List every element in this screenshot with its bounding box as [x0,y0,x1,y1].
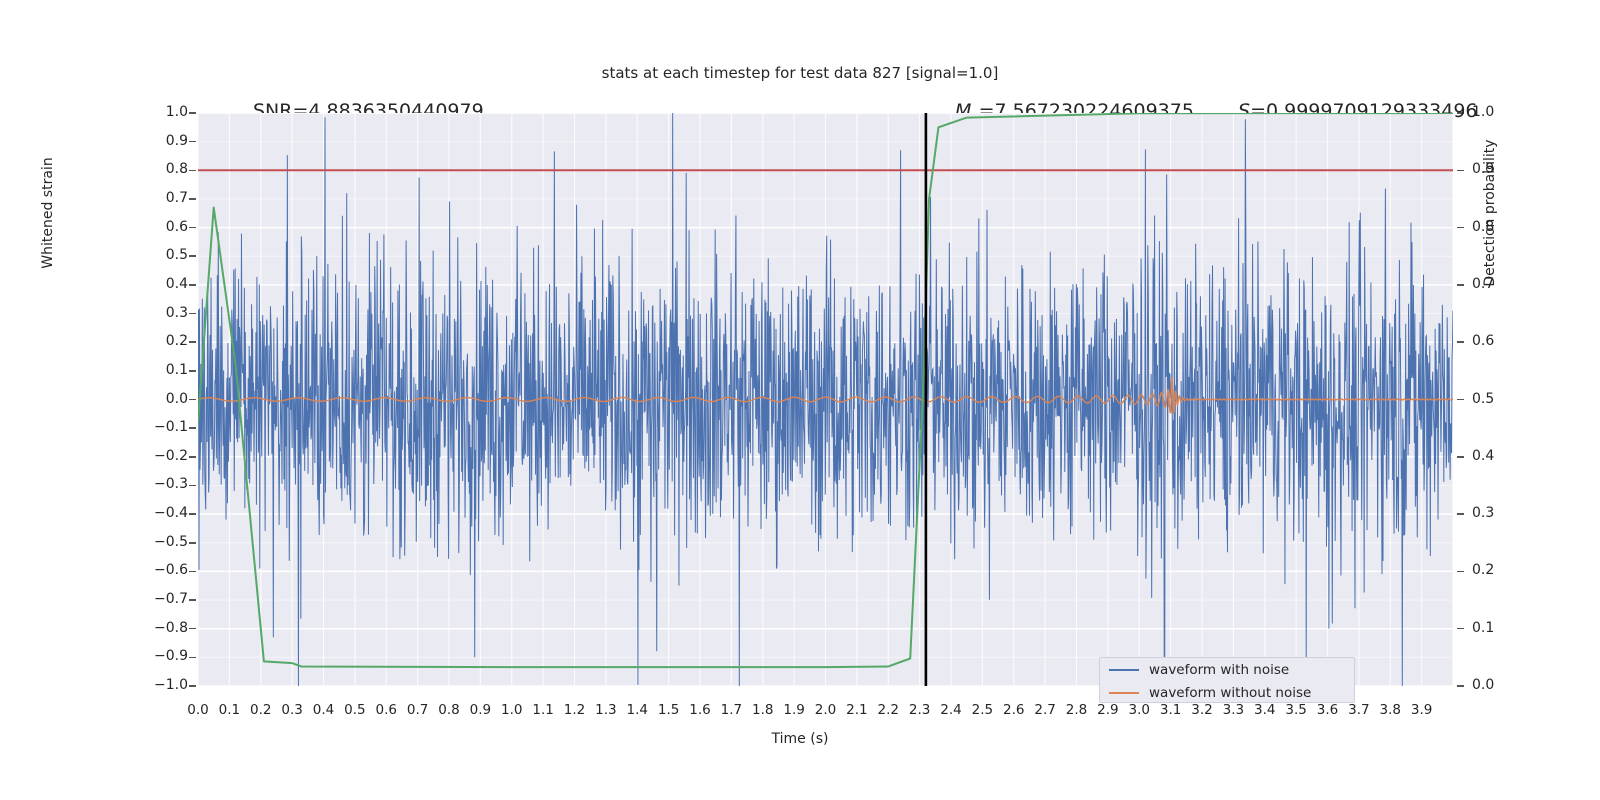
y-tick-mark-left [189,198,196,200]
y-tick-mark-right [1457,456,1464,458]
plot-area [198,113,1453,686]
x-tick: 3.9 [1402,702,1442,718]
y-tick-left: −0.6 [0,562,188,578]
y-tick-mark-right [1457,227,1464,229]
y-tick-mark-left [189,657,196,659]
y-tick-mark-right [1457,284,1464,286]
y-tick-mark-left [189,341,196,343]
legend-label-noise: waveform with noise [1149,662,1289,678]
y-tick-left: 1.0 [0,104,188,120]
y-tick-right: 0.4 [1472,448,1494,464]
y-tick-right: 0.3 [1472,505,1494,521]
y-tick-left: −0.1 [0,419,188,435]
y-tick-mark-left [189,427,196,429]
y-tick-right: 0.9 [1472,161,1494,177]
figure-canvas: stats at each timestep for test data 827… [0,0,1600,800]
y-tick-mark-left [189,170,196,172]
y-tick-right: 0.7 [1472,276,1494,292]
y-tick-mark-left [189,141,196,143]
y-tick-mark-left [189,685,196,687]
legend-label-clean: waveform without noise [1149,685,1311,701]
y-tick-mark-left [189,112,196,114]
y-tick-mark-left [189,399,196,401]
y-tick-mark-right [1457,628,1464,630]
y-tick-mark-left [189,255,196,257]
y-tick-mark-right [1457,571,1464,573]
y-tick-left: 0.5 [0,247,188,263]
y-tick-mark-left [189,485,196,487]
y-tick-mark-left [189,542,196,544]
y-tick-left: −0.2 [0,448,188,464]
y-tick-left: 0.0 [0,391,188,407]
x-axis-label: Time (s) [0,731,1600,747]
y-tick-mark-left [189,284,196,286]
legend-item-noise: waveform with noise [1100,658,1354,681]
y-tick-left: 0.1 [0,362,188,378]
y-tick-right: 0.1 [1472,620,1494,636]
y-tick-left: 0.4 [0,276,188,292]
y-tick-mark-left [189,599,196,601]
y-tick-left: 0.6 [0,219,188,235]
chart-title: stats at each timestep for test data 827… [0,64,1600,82]
y-tick-left: 0.2 [0,333,188,349]
legend-swatch-clean [1109,692,1139,694]
y-tick-left: 0.9 [0,133,188,149]
y-tick-mark-right [1457,170,1464,172]
y-tick-left: −0.4 [0,505,188,521]
y-tick-mark-left [189,456,196,458]
y-tick-mark-right [1457,513,1464,515]
y-tick-right: 0.2 [1472,562,1494,578]
y-tick-mark-left [189,628,196,630]
y-tick-left: −0.7 [0,591,188,607]
y-tick-mark-right [1457,341,1464,343]
legend-item-clean: waveform without noise [1100,681,1354,704]
y-tick-right: 0.5 [1472,391,1494,407]
y-tick-left: −0.9 [0,648,188,664]
legend-swatch-noise [1109,669,1139,671]
y-tick-mark-left [189,227,196,229]
y-tick-left: 0.7 [0,190,188,206]
y-tick-left: 0.3 [0,305,188,321]
y-tick-mark-left [189,370,196,372]
y-tick-mark-right [1457,685,1464,687]
y-tick-mark-left [189,313,196,315]
y-tick-mark-left [189,571,196,573]
y-tick-right: 0.6 [1472,333,1494,349]
y-tick-left: −0.5 [0,534,188,550]
y-tick-left: −0.8 [0,620,188,636]
y-tick-left: −0.3 [0,476,188,492]
y-tick-left: 0.8 [0,161,188,177]
y-tick-mark-left [189,513,196,515]
y-tick-left: −1.0 [0,677,188,693]
y-tick-right: 0.0 [1472,677,1494,693]
y-tick-right: 0.8 [1472,219,1494,235]
plot-svg [198,113,1453,686]
legend: waveform with noise waveform without noi… [1099,657,1355,703]
y-tick-mark-right [1457,399,1464,401]
